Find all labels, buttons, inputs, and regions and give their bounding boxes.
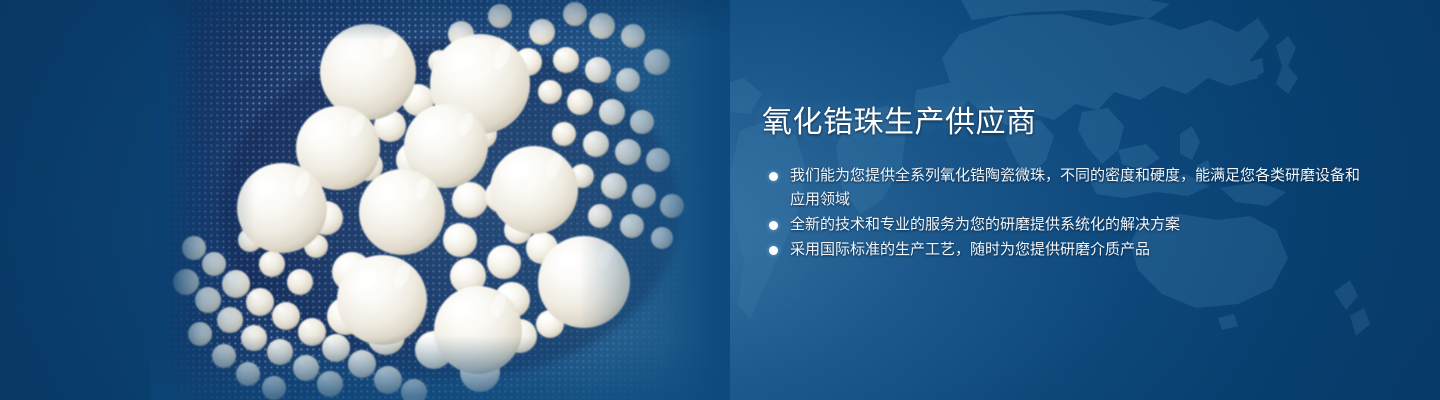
- bead-cluster: [150, 0, 730, 400]
- banner-copy: 氧化锆珠生产供应商 我们能为您提供全系列氧化锆陶瓷微珠，不同的密度和硬度，能满足…: [762, 104, 1362, 263]
- list-item: 全新的技术和专业的服务为您的研磨提供系统化的解决方案: [762, 213, 1362, 237]
- hero-banner: 氧化锆珠生产供应商 我们能为您提供全系列氧化锆陶瓷微珠，不同的密度和硬度，能满足…: [0, 0, 1440, 400]
- list-item-label: 我们能为您提供全系列氧化锆陶瓷微珠，不同的密度和硬度，能满足您各类研磨设备和应用…: [790, 167, 1360, 208]
- page-title: 氧化锆珠生产供应商: [762, 104, 1362, 142]
- list-item-label: 全新的技术和专业的服务为您的研磨提供系统化的解决方案: [790, 216, 1180, 233]
- bullet-dot-icon: [769, 246, 778, 255]
- bullet-dot-icon: [769, 172, 778, 181]
- zirconia-beads-photo: [150, 0, 730, 400]
- feature-list: 我们能为您提供全系列氧化锆陶瓷微珠，不同的密度和硬度，能满足您各类研磨设备和应用…: [762, 164, 1362, 262]
- list-item-label: 采用国际标准的生产工艺，随时为您提供研磨介质产品: [790, 241, 1150, 258]
- bullet-dot-icon: [769, 221, 778, 230]
- list-item: 我们能为您提供全系列氧化锆陶瓷微珠，不同的密度和硬度，能满足您各类研磨设备和应用…: [762, 164, 1362, 212]
- list-item: 采用国际标准的生产工艺，随时为您提供研磨介质产品: [762, 238, 1362, 262]
